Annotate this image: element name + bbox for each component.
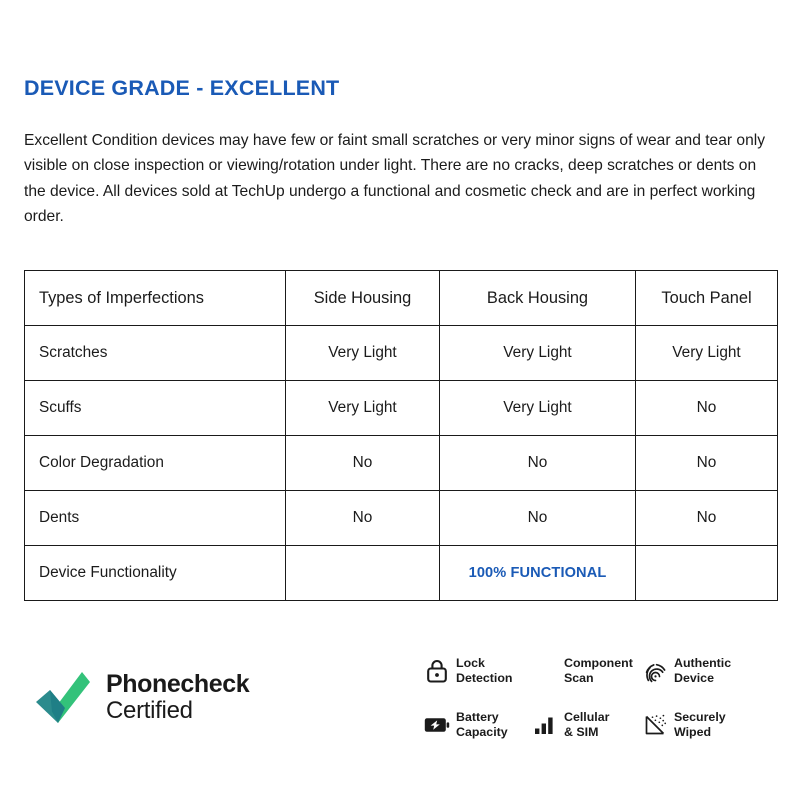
column-header-types: Types of Imperfections xyxy=(25,271,286,326)
cell-scratches-side: Very Light xyxy=(286,326,440,381)
cell-scratches-touch: Very Light xyxy=(636,326,778,381)
row-label-color-degradation: Color Degradation xyxy=(25,436,286,491)
cell-color-side: No xyxy=(286,436,440,491)
cell-functionality-side xyxy=(286,546,440,601)
badge-label: Securely Wiped xyxy=(674,710,726,741)
badge-authentic-device: Authentic Device xyxy=(642,656,770,687)
checkmark-icon xyxy=(32,666,94,728)
row-label-scratches: Scratches xyxy=(25,326,286,381)
phonecheck-certified-logo: Phonecheck Certified xyxy=(32,666,249,728)
cell-dents-side: No xyxy=(286,491,440,546)
badge-cellular-sim: Cellular & SIM xyxy=(532,710,642,741)
row-label-device-functionality: Device Functionality xyxy=(25,546,286,601)
cell-color-back: No xyxy=(440,436,636,491)
cell-functionality-touch xyxy=(636,546,778,601)
badge-label: Authentic Device xyxy=(674,656,731,687)
page-title: DEVICE GRADE - EXCELLENT xyxy=(24,78,339,100)
cell-color-touch: No xyxy=(636,436,778,491)
fingerprint-icon xyxy=(642,657,668,685)
cell-dents-touch: No xyxy=(636,491,778,546)
table-row: Scuffs Very Light Very Light No xyxy=(25,381,778,436)
badge-battery-capacity: Battery Capacity xyxy=(424,710,532,741)
certification-badges: Lock Detection Component Scan xyxy=(424,644,784,752)
logo-wordmark: Phonecheck Certified xyxy=(106,671,249,723)
device-grade-card: DEVICE GRADE - EXCELLENT Excellent Condi… xyxy=(0,0,800,800)
cell-scratches-back: Very Light xyxy=(440,326,636,381)
battery-icon xyxy=(424,711,450,739)
table-header-row: Types of Imperfections Side Housing Back… xyxy=(25,271,778,326)
status-badge-functional: 100% FUNCTIONAL xyxy=(440,546,636,601)
imperfections-table: Types of Imperfections Side Housing Back… xyxy=(24,270,778,601)
table-row: Scratches Very Light Very Light Very Lig… xyxy=(25,326,778,381)
badge-component-scan: Component Scan xyxy=(532,656,642,687)
logo-subtitle: Certified xyxy=(106,698,249,723)
cell-scuffs-side: Very Light xyxy=(286,381,440,436)
cell-dents-back: No xyxy=(440,491,636,546)
column-header-side-housing: Side Housing xyxy=(286,271,440,326)
badge-label: Lock Detection xyxy=(456,656,512,687)
table-row: Dents No No No xyxy=(25,491,778,546)
cell-scuffs-touch: No xyxy=(636,381,778,436)
badge-securely-wiped: Securely Wiped xyxy=(642,710,770,741)
eraser-icon xyxy=(642,711,668,739)
column-header-touch-panel: Touch Panel xyxy=(636,271,778,326)
cell-scuffs-back: Very Light xyxy=(440,381,636,436)
logo-name: Phonecheck xyxy=(106,671,249,698)
signal-bars-icon xyxy=(532,711,558,739)
badge-label: Component Scan xyxy=(564,656,633,687)
grade-description: Excellent Condition devices may have few… xyxy=(24,128,772,229)
badge-lock-detection: Lock Detection xyxy=(424,656,532,687)
row-label-dents: Dents xyxy=(25,491,286,546)
footer: Phonecheck Certified Lock Detection Comp… xyxy=(0,636,800,766)
column-header-back-housing: Back Housing xyxy=(440,271,636,326)
table-row: Color Degradation No No No xyxy=(25,436,778,491)
badge-label: Cellular & SIM xyxy=(564,710,609,741)
table-row: Device Functionality 100% FUNCTIONAL xyxy=(25,546,778,601)
lock-icon xyxy=(424,657,450,685)
row-label-scuffs: Scuffs xyxy=(25,381,286,436)
badge-label: Battery Capacity xyxy=(456,710,508,741)
